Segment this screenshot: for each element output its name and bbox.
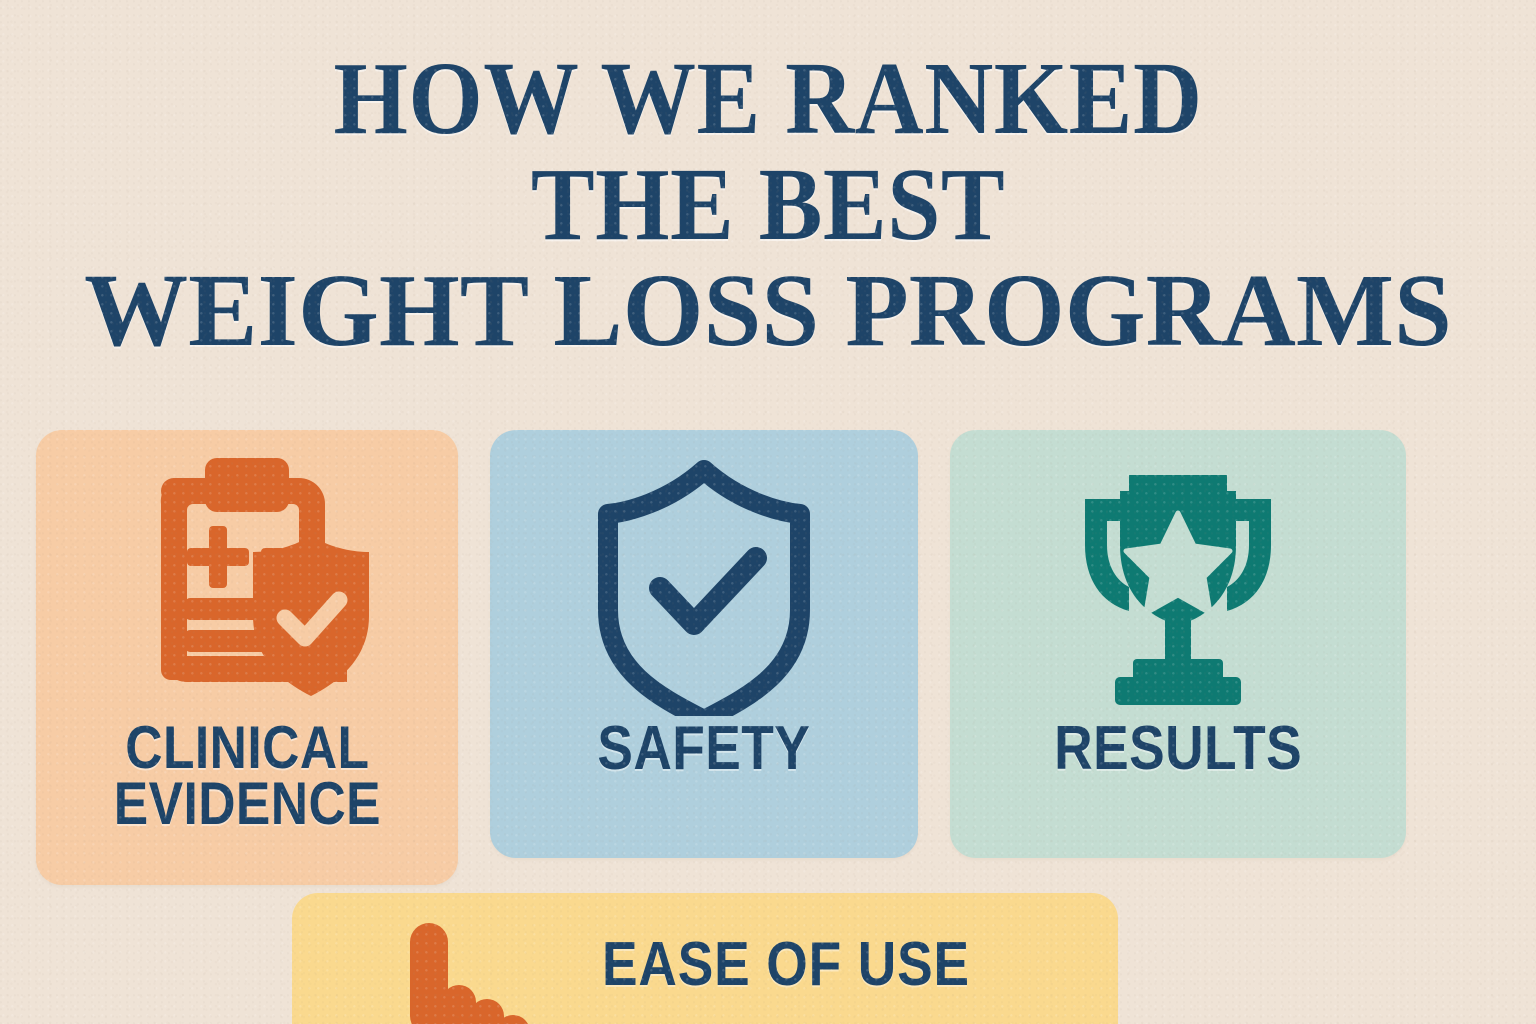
- criteria-card-clinical-evidence[interactable]: CLINICAL EVIDENCE: [36, 430, 458, 885]
- criteria-card-safety[interactable]: SAFETY: [490, 430, 918, 858]
- criteria-label-line-2: EVIDENCE: [113, 770, 380, 837]
- page-title: HOW WE RANKED THE BEST WEIGHT LOSS PROGR…: [0, 46, 1536, 364]
- criteria-card-results[interactable]: RESULTS: [950, 430, 1406, 858]
- criteria-card-ease-of-use[interactable]: EASE OF USE: [292, 893, 1118, 1024]
- criteria-card-label: CLINICAL EVIDENCE: [113, 720, 380, 833]
- clipboard-shield-check-icon: [121, 430, 373, 720]
- page-title-line-3: WEIGHT LOSS PROGRAMS: [0, 258, 1536, 364]
- page-title-line-1: HOW WE RANKED: [61, 46, 1474, 152]
- pointing-hand-icon: [292, 893, 572, 1024]
- trophy-star-icon: [1071, 430, 1285, 720]
- page-title-line-2: THE BEST: [61, 152, 1474, 258]
- criteria-card-label: SAFETY: [598, 720, 811, 778]
- ease-of-use-label: EASE OF USE: [602, 929, 970, 1000]
- shield-check-icon: [598, 430, 810, 720]
- criteria-card-label: RESULTS: [1054, 720, 1302, 778]
- criteria-card-row: CLINICAL EVIDENCE SAFETY: [36, 430, 1406, 885]
